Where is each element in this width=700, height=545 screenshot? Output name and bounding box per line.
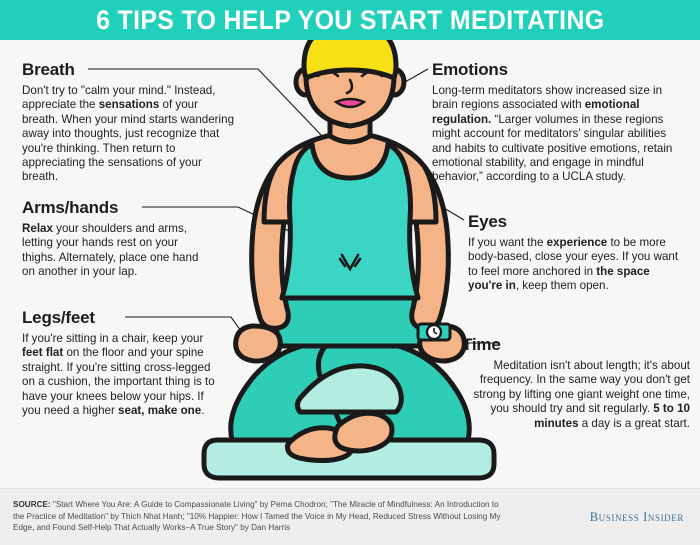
tip-eyes-heading: Eyes [468, 212, 686, 232]
hair [304, 40, 396, 78]
wristwatch [418, 324, 450, 340]
tip-time: Time Meditation isn't about length; it's… [462, 335, 690, 431]
tip-eyes: Eyes If you want the experience to be mo… [468, 212, 686, 294]
tip-emotions-heading: Emotions [432, 60, 682, 80]
business-insider-logo: Business Insider [590, 510, 684, 525]
left-hand [236, 326, 281, 361]
tip-breath-body: Don't try to "calm your mind." Instead, … [22, 84, 237, 185]
tip-eyes-body: If you want the experience to be more bo… [468, 236, 686, 294]
tip-legs-heading: Legs/feet [22, 308, 217, 328]
tip-time-heading: Time [462, 335, 690, 355]
tip-legs-body: If you're sitting in a chair, keep your … [22, 332, 217, 418]
source-label: SOURCE: [13, 499, 51, 509]
tip-breath: Breath Don't try to "calm your mind." In… [22, 60, 237, 185]
tip-emotions: Emotions Long-term meditators show incre… [432, 60, 682, 185]
tip-time-body: Meditation isn't about length; it's abou… [462, 359, 690, 431]
source-text: "Start Where You Are: A Guide to Compass… [13, 499, 500, 532]
tip-breath-heading: Breath [22, 60, 237, 80]
lips [336, 99, 364, 107]
tip-arms-body: Relax your shoulders and arms, letting y… [22, 222, 212, 280]
infographic-root: 6 Tips To Help You Start Meditating [0, 0, 700, 545]
source-credit: SOURCE: "Start Where You Are: A Guide to… [13, 499, 507, 534]
tip-arms: Arms/hands Relax your shoulders and arms… [22, 198, 212, 280]
right-foot [335, 413, 392, 451]
footer: SOURCE: "Start Where You Are: A Guide to… [0, 488, 700, 545]
tip-legs: Legs/feet If you're sitting in a chair, … [22, 308, 217, 418]
hips [276, 298, 423, 346]
page-title: 6 Tips To Help You Start Meditating [96, 5, 604, 36]
infographic-canvas: Breath Don't try to "calm your mind." In… [0, 40, 700, 488]
header-banner: 6 Tips To Help You Start Meditating [0, 0, 700, 40]
tip-emotions-body: Long-term meditators show increased size… [432, 84, 682, 185]
tip-arms-heading: Arms/hands [22, 198, 212, 218]
